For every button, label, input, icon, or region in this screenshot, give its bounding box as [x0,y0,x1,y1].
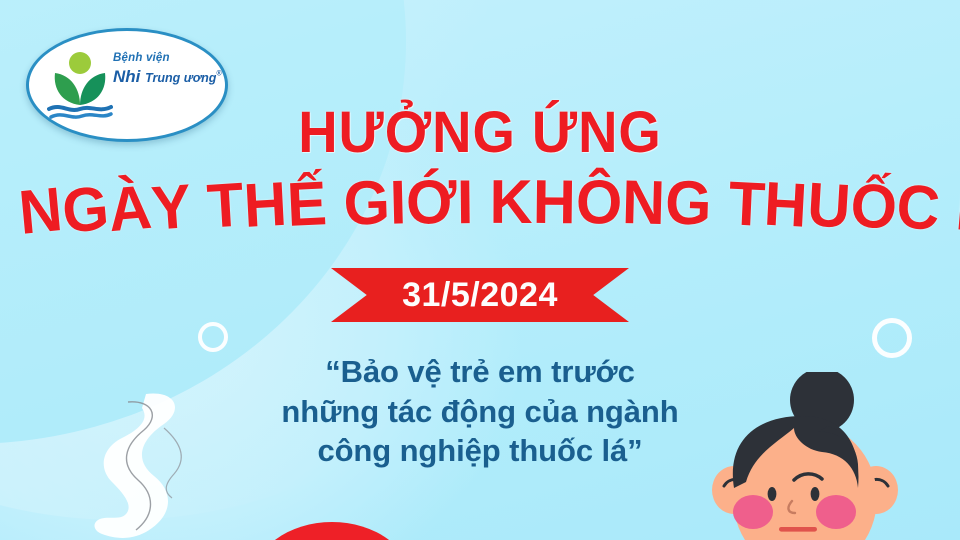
logo-line-2: Nhi Trung ương® [113,68,221,85]
headline-char: T [206,174,246,238]
headline-char: Ô [576,172,623,235]
headline-char: H [763,174,809,238]
poster-canvas: Bệnh viện Nhi Trung ương® HƯỞNG ỨNG NGÀY… [0,0,960,540]
headline-block: HƯỞNG ỨNG NGÀY THẾ GIỚI KHÔNG THUỐC LÁ [0,104,960,162]
decor-ring-left-icon [198,322,228,352]
headline-char: H [243,174,289,238]
headline-char: H [533,172,577,234]
date-ribbon: 31/5/2024 [331,268,629,322]
headline-line-2: NGÀY THẾ GIỚI KHÔNG THUỐC LÁ [19,172,941,234]
headline-char: G [664,172,712,236]
headline-char: G [342,172,390,236]
headline-char: I [389,172,407,234]
decor-ring-right-icon [872,318,912,358]
girl-illustration [690,372,950,540]
headline-char: G [60,178,111,244]
headline-char: T [727,173,766,237]
headline-char: Ớ [406,172,458,235]
headline-char: Ố [849,175,899,240]
headline-char: N [16,179,64,245]
headline-char: I [457,172,474,234]
logo-text: Bệnh viện Nhi Trung ương® [113,53,221,85]
logo-word-trunguong: Trung ương [145,71,216,85]
headline-char: Ế [286,173,328,237]
headline-char: N [622,172,666,235]
headline-char: K [490,172,533,234]
headline-char: Y [149,176,193,241]
headline-char: U [806,174,853,239]
headline-char [710,173,729,236]
headline-char: C [895,176,942,241]
date-ribbon-text: 31/5/2024 [402,276,558,315]
headline-char: À [106,177,154,242]
logo-word-nhi: Nhi [113,67,140,86]
logo-line-1: Bệnh viện [113,53,221,65]
headline-line-1: HƯỞNG ỨNG [29,104,931,162]
logo-registered-icon: ® [216,70,221,77]
headline-char [326,173,345,236]
headline-char [473,172,490,234]
